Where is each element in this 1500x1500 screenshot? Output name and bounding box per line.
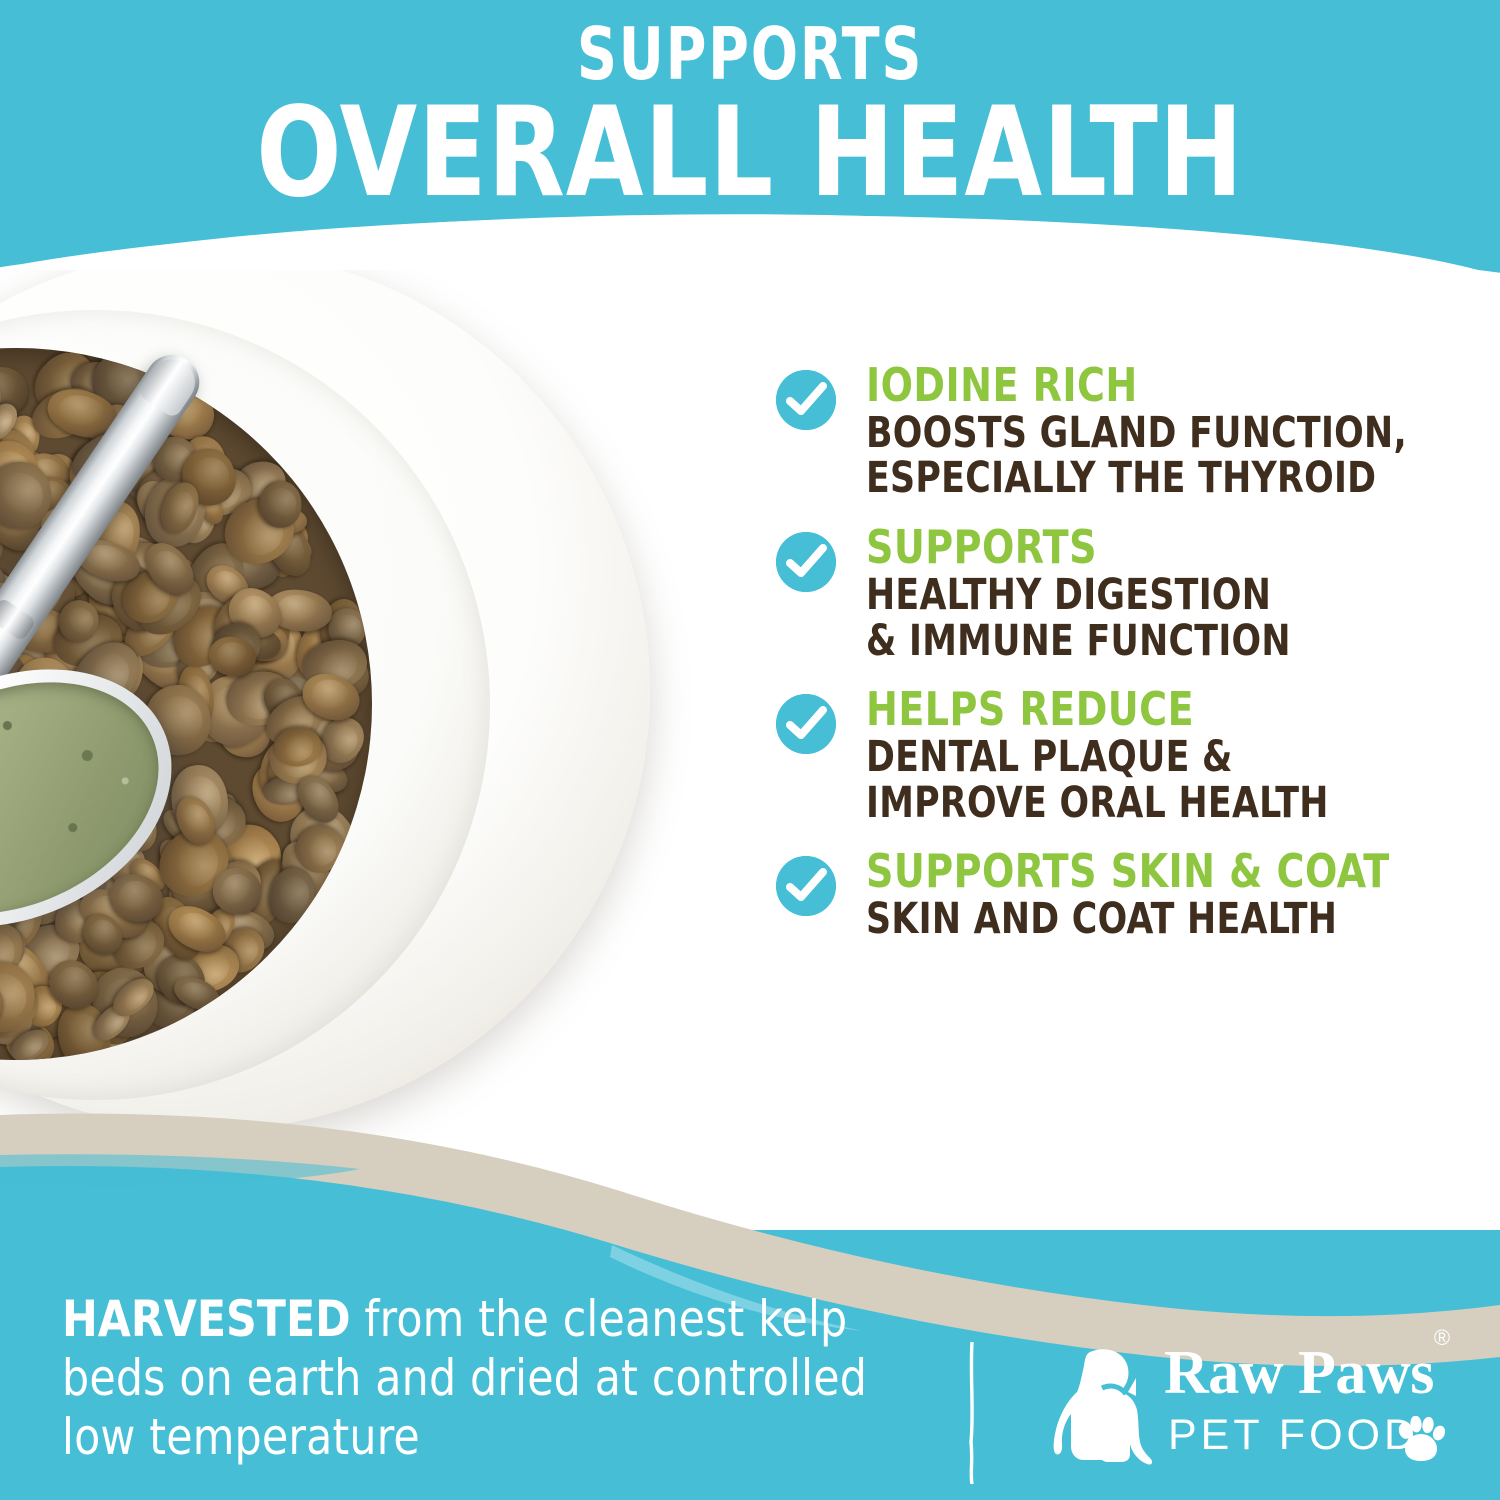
check-circle-icon — [776, 694, 836, 754]
benefit-item-3: HELPS REDUCEDENTAL PLAQUE &IMPROVE ORAL … — [770, 686, 1470, 826]
dog-and-cat-silhouette-icon — [1044, 1340, 1156, 1472]
header-banner: SUPPORTS OVERALL HEALTH — [0, 0, 1500, 250]
header-supports-line: SUPPORTS — [105, 18, 1395, 90]
benefit-line: HEALTHY DIGESTION — [866, 573, 1410, 619]
benefit-item-2: SUPPORTSHEALTHY DIGESTION& IMMUNE FUNCTI… — [770, 524, 1470, 664]
benefits-list: IODINE RICHBOOSTS GLAND FUNCTION,ESPECIA… — [770, 362, 1470, 965]
page-title: OVERALL HEALTH — [75, 88, 1425, 218]
benefit-item-4: SUPPORTS SKIN & COATSKIN AND COAT HEALTH — [770, 848, 1470, 942]
benefit-line: ESPECIALLY THE THYROID — [866, 456, 1410, 502]
benefit-line: & IMMUNE FUNCTION — [866, 619, 1410, 665]
benefit-title: IODINE RICH — [866, 362, 1422, 409]
logo-wordmark: Raw Paws® — [1164, 1342, 1450, 1404]
benefit-line: BOOSTS GLAND FUNCTION, — [866, 411, 1410, 457]
tagline-emphasis: HARVESTED — [62, 1290, 351, 1348]
check-circle-icon — [776, 856, 836, 916]
paw-print-icon — [1396, 1416, 1446, 1462]
benefit-line: SKIN AND COAT HEALTH — [866, 897, 1410, 943]
footer-divider — [968, 1342, 976, 1484]
logo-subtitle: PET FOOD — [1168, 1414, 1419, 1457]
benefit-title: HELPS REDUCE — [866, 686, 1422, 733]
registered-mark: ® — [1434, 1325, 1450, 1350]
check-circle-icon — [776, 370, 836, 430]
header-main-wrap: OVERALL HEALTH — [0, 88, 1500, 218]
footer-tagline: HARVESTED from the cleanest kelp beds on… — [62, 1290, 879, 1467]
infographic-canvas: SUPPORTS OVERALL HEALTH IODINE RICHBOOST… — [0, 0, 1500, 1500]
benefit-item-1: IODINE RICHBOOSTS GLAND FUNCTION,ESPECIA… — [770, 362, 1470, 502]
benefit-title: SUPPORTS — [866, 524, 1422, 571]
benefit-title: SUPPORTS SKIN & COAT — [866, 848, 1422, 895]
brand-logo: Raw Paws® PET FOOD — [1044, 1336, 1464, 1486]
benefit-line: IMPROVE ORAL HEALTH — [866, 781, 1410, 827]
check-circle-icon — [776, 532, 836, 592]
product-photo — [0, 270, 690, 1150]
benefit-line: DENTAL PLAQUE & — [866, 735, 1410, 781]
